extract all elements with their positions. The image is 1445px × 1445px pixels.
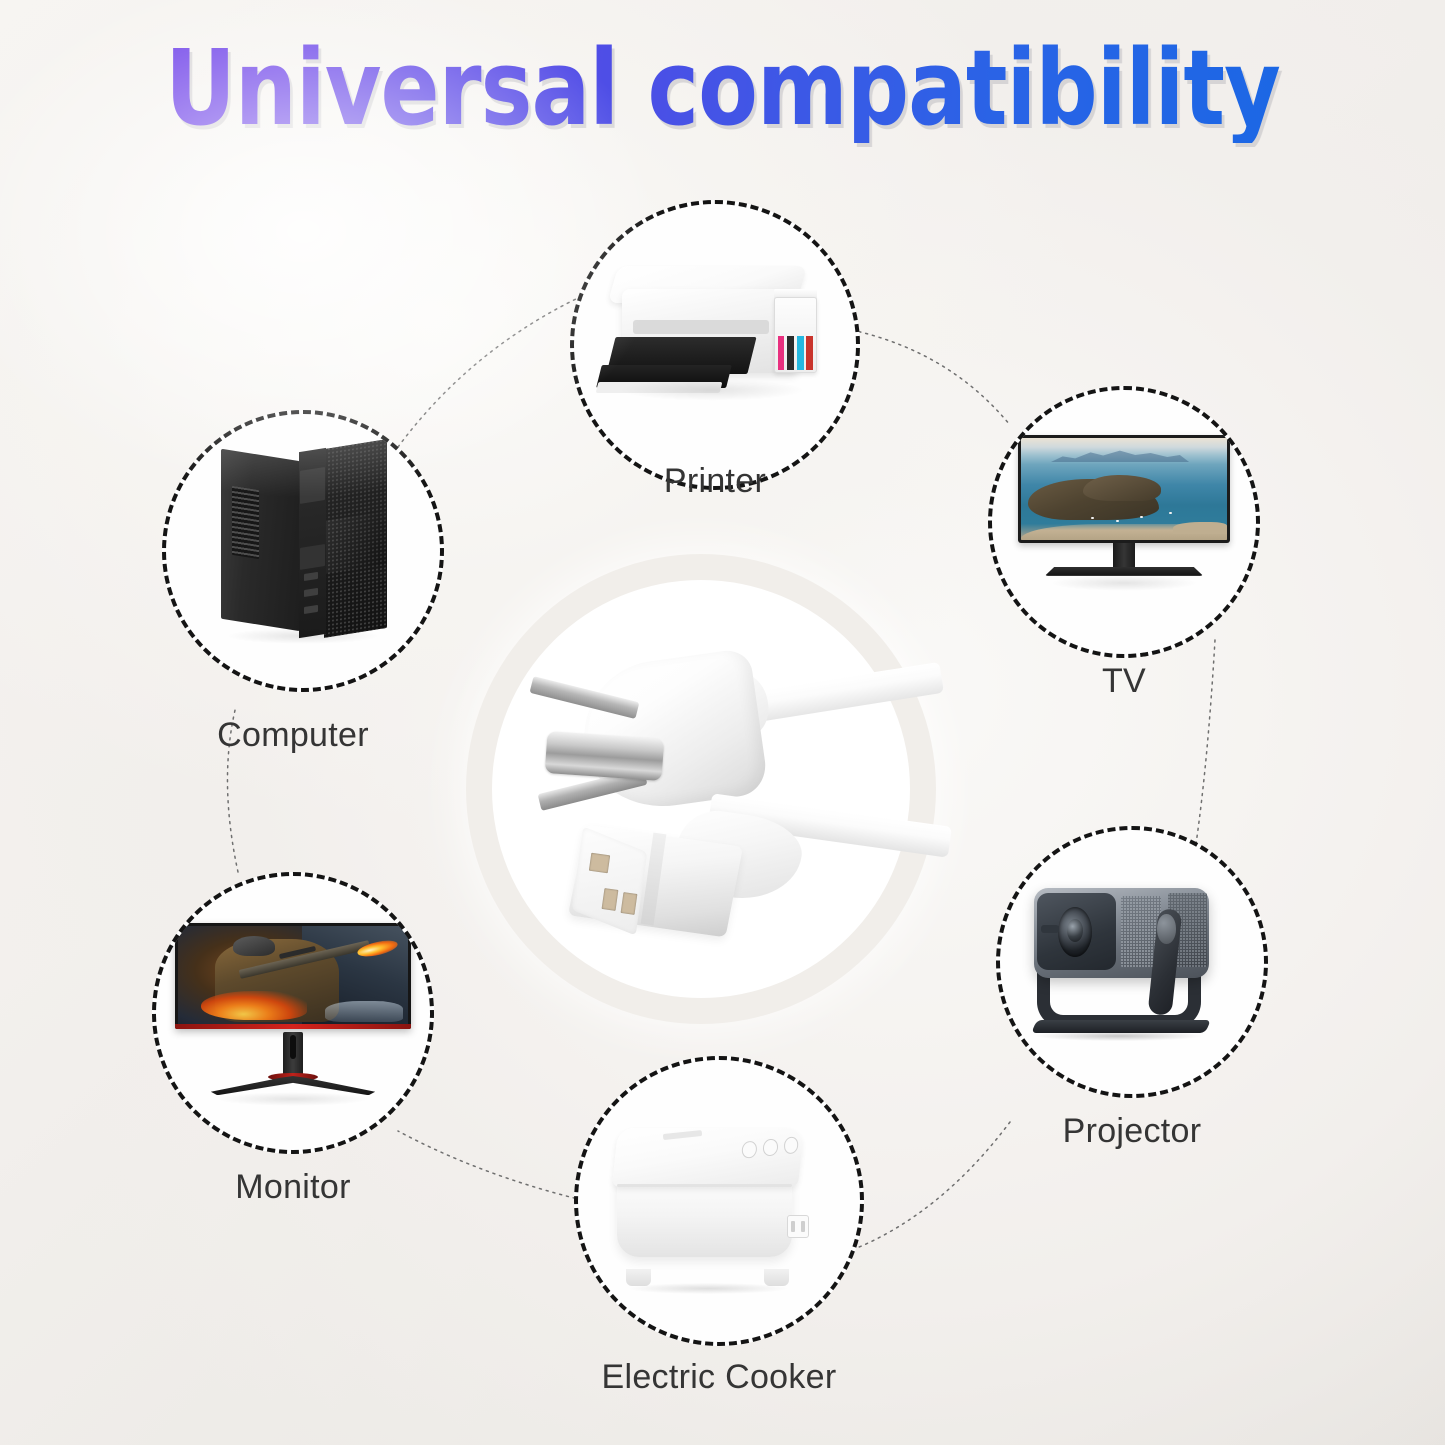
rice-cooker-icon (578, 1060, 860, 1342)
tv-icon (992, 390, 1256, 654)
node-label-electric-cooker: Electric Cooker (554, 1358, 884, 1397)
desktop-computer-icon (166, 414, 440, 688)
node-label-computer: Computer (148, 716, 438, 755)
node-tv[interactable] (988, 386, 1260, 658)
node-computer[interactable] (162, 410, 444, 692)
node-label-projector: Projector (982, 1112, 1282, 1151)
infographic-canvas: Universal compatibility (0, 0, 1445, 1445)
node-printer[interactable] (570, 200, 860, 490)
printer-icon (574, 204, 856, 486)
center-product-circle (492, 580, 910, 998)
page-title: Universal compatibility (51, 34, 1395, 143)
node-label-tv: TV (988, 662, 1260, 701)
node-label-printer: Printer (570, 462, 860, 501)
gaming-monitor-icon (156, 876, 430, 1150)
node-projector[interactable] (996, 826, 1268, 1098)
projector-icon (1000, 830, 1264, 1094)
node-label-monitor: Monitor (148, 1168, 438, 1207)
connector-printer-tv (852, 330, 1010, 425)
node-electric-cooker[interactable] (574, 1056, 864, 1346)
node-monitor[interactable] (152, 872, 434, 1154)
power-cord-icon (492, 580, 910, 998)
